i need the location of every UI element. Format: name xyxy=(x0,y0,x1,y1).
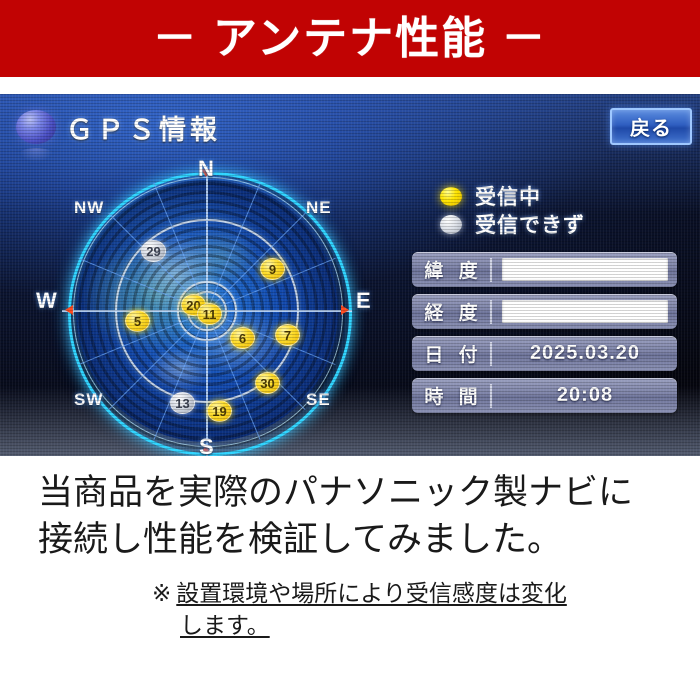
caption-text: 当商品を実際のパナソニック製ナビに 接続し性能を検証してみました。 xyxy=(38,470,668,564)
field-label-date: 日 付 xyxy=(412,340,490,367)
satellite-marker-11: 11 xyxy=(197,303,222,325)
compass-label-sw: SW xyxy=(74,390,103,410)
field-date: 日 付 2025.03.20 xyxy=(412,336,677,371)
satellite-sky-plot: 2992011567301319 xyxy=(68,172,346,450)
field-divider xyxy=(490,342,492,366)
field-value-longitude xyxy=(502,300,668,323)
satellite-marker-13: 13 xyxy=(170,392,195,414)
globe-orb-icon xyxy=(16,110,56,144)
back-button[interactable]: 戻る xyxy=(610,108,692,145)
satellite-marker-19: 19 xyxy=(207,400,232,422)
satellite-marker-29: 29 xyxy=(141,240,166,262)
note-line-2: します。 xyxy=(180,612,270,638)
globe-orb-reflection xyxy=(18,148,54,162)
satellite-marker-6: 6 xyxy=(230,327,255,349)
note-line-1: 設置環境や場所により受信感度は変化 xyxy=(176,578,567,610)
gps-data-fields: 緯 度 経 度 日 付 2025.03.20 時 間 20:08 xyxy=(412,252,677,420)
legend-dot-not-receiving-icon xyxy=(440,215,462,234)
field-value-time: 20:08 xyxy=(502,384,668,407)
navigation-screen-photo: ＧＰＳ情報 戻る 2992011567301319 N S E W NE xyxy=(0,94,700,456)
west-marker-icon xyxy=(65,305,73,315)
compass-label-w: W xyxy=(36,288,58,314)
legend-label-not-receiving: 受信できず xyxy=(475,209,585,239)
satellite-marker-7: 7 xyxy=(275,324,300,346)
east-marker-icon xyxy=(341,305,349,315)
field-label-time: 時 間 xyxy=(412,382,490,409)
field-label-latitude: 緯 度 xyxy=(412,256,490,283)
field-divider xyxy=(490,300,492,324)
banner-title: － アンテナ性能 － xyxy=(153,17,548,61)
caption-line-1: 当商品を実際のパナソニック製ナビに xyxy=(38,470,668,517)
field-value-date: 2025.03.20 xyxy=(502,342,668,365)
field-label-longitude: 経 度 xyxy=(412,298,490,325)
legend-item-not-receiving: 受信できず xyxy=(440,210,585,238)
legend-item-receiving: 受信中 xyxy=(440,182,585,210)
header-banner: － アンテナ性能 － xyxy=(0,0,700,77)
note-mark-icon: ※ xyxy=(152,578,171,610)
signal-legend: 受信中 受信できず xyxy=(440,182,585,238)
compass-label-ne: NE xyxy=(306,198,332,218)
legend-label-receiving: 受信中 xyxy=(475,181,541,211)
field-latitude: 緯 度 xyxy=(412,252,677,287)
compass-label-s: S xyxy=(199,434,215,456)
legend-dot-receiving-icon xyxy=(440,187,462,206)
satellite-marker-30: 30 xyxy=(255,372,280,394)
compass-label-nw: NW xyxy=(74,198,104,218)
screen-title: ＧＰＳ情報 xyxy=(66,108,221,147)
field-time: 時 間 20:08 xyxy=(412,378,677,413)
compass-label-e: E xyxy=(356,288,372,314)
field-divider xyxy=(490,258,492,282)
field-longitude: 経 度 xyxy=(412,294,677,329)
caption-line-2: 接続し性能を検証してみました。 xyxy=(38,517,668,564)
compass-label-n: N xyxy=(198,156,215,182)
disclaimer-note: ※ 設置環境や場所により受信感度は変化 します。 xyxy=(152,578,672,641)
field-divider xyxy=(490,384,492,408)
satellite-marker-9: 9 xyxy=(260,258,285,280)
satellite-marker-5: 5 xyxy=(125,310,150,332)
field-value-latitude xyxy=(502,258,668,281)
compass-label-se: SE xyxy=(306,390,331,410)
